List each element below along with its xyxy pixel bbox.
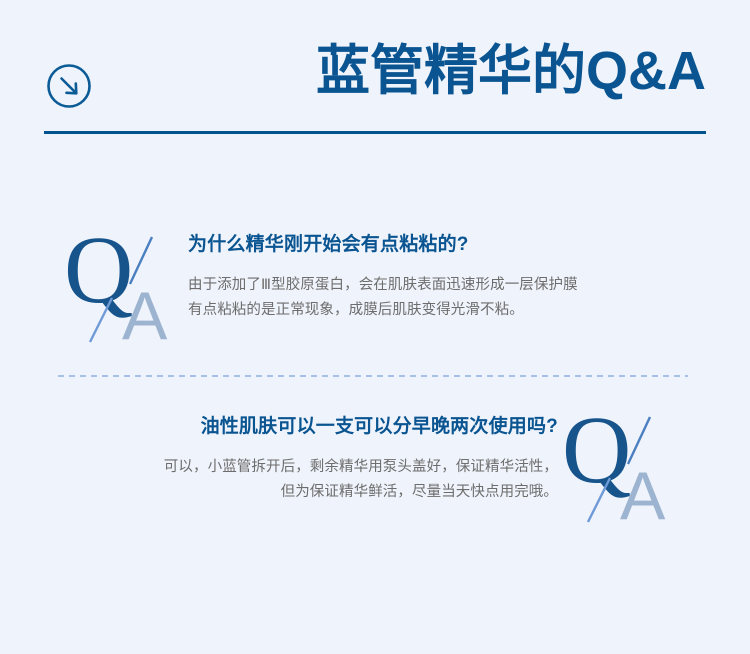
qa-monogram-icon: Q A xyxy=(562,404,692,529)
qa-answer-line: 可以，小蓝管拆开后，剩余精华用泵头盖好，保证精华活性， xyxy=(40,455,558,480)
page-title: 蓝管精华的Q&A xyxy=(316,44,706,98)
qa-question: 油性肌肤可以一支可以分早晚两次使用吗? xyxy=(40,414,558,441)
a-letter-glyph: A xyxy=(620,458,666,529)
circle-arrow-down-right-icon xyxy=(46,63,92,109)
qa-item: Q A 为什么精华刚开始会有点粘粘的? 由于添加了Ⅲ型胶原蛋白，会在肌肤表面迅速… xyxy=(0,222,750,352)
qa-text-group: 油性肌肤可以一支可以分早晚两次使用吗? 可以，小蓝管拆开后，剩余精华用泵头盖好，… xyxy=(40,414,558,505)
qa-monogram-icon: Q A xyxy=(64,224,194,349)
qa-answer: 由于添加了Ⅲ型胶原蛋白，会在肌肤表面迅速形成一层保护膜 有点粘粘的是正常现象，成… xyxy=(188,273,708,324)
qa-text-group: 为什么精华刚开始会有点粘粘的? 由于添加了Ⅲ型胶原蛋白，会在肌肤表面迅速形成一层… xyxy=(188,232,708,323)
qa-question: 为什么精华刚开始会有点粘粘的? xyxy=(188,232,708,259)
qa-item: Q A 油性肌肤可以一支可以分早晚两次使用吗? 可以，小蓝管拆开后，剩余精华用泵… xyxy=(0,402,750,532)
title-underline-rule xyxy=(44,131,706,134)
qa-answer-line: 但为保证精华鲜活，尽量当天快点用完哦。 xyxy=(40,480,558,505)
qa-answer-line: 由于添加了Ⅲ型胶原蛋白，会在肌肤表面迅速形成一层保护膜 xyxy=(188,273,708,298)
page-header: 蓝管精华的Q&A xyxy=(0,0,750,145)
qa-answer: 可以，小蓝管拆开后，剩余精华用泵头盖好，保证精华活性， 但为保证精华鲜活，尽量当… xyxy=(40,455,558,506)
a-letter-glyph: A xyxy=(122,278,168,349)
qa-answer-line: 有点粘粘的是正常现象，成膜后肌肤变得光滑不粘。 xyxy=(188,298,708,323)
qa-dashed-divider xyxy=(58,375,688,377)
